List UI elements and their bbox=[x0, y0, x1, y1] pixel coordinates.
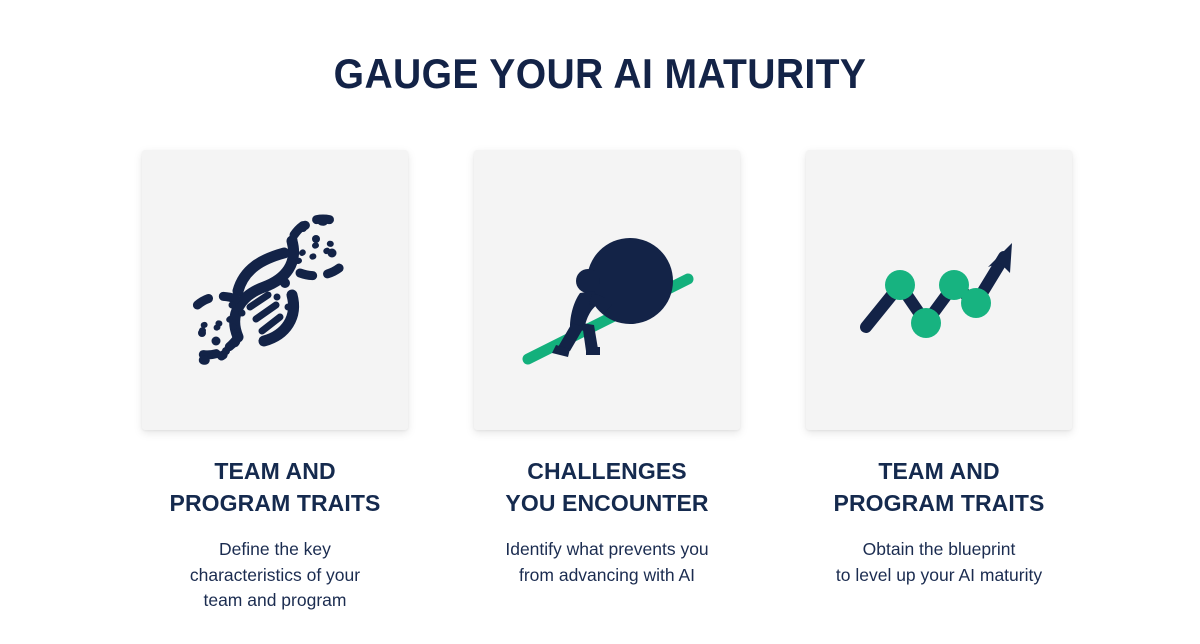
card-icon-tile bbox=[474, 150, 740, 430]
card-heading: TEAM AND PROGRAM TRAITS bbox=[170, 456, 381, 519]
cards-row: TEAM AND PROGRAM TRAITS Define the key c… bbox=[142, 150, 1072, 614]
person-pushing-boulder-uphill-icon bbox=[512, 195, 702, 385]
infographic-page: GAUGE YOUR AI MATURITY bbox=[0, 0, 1200, 644]
card-icon-tile bbox=[142, 150, 408, 430]
card-team-and-program-traits: TEAM AND PROGRAM TRAITS Define the key c… bbox=[142, 150, 408, 614]
card-blueprint-traits: TEAM AND PROGRAM TRAITS Obtain the bluep… bbox=[806, 150, 1072, 614]
card-body-text: Obtain the blueprint to level up your AI… bbox=[836, 537, 1042, 588]
upward-trend-arrow-icon bbox=[844, 195, 1034, 385]
card-heading: CHALLENGES YOU ENCOUNTER bbox=[505, 456, 708, 519]
card-heading: TEAM AND PROGRAM TRAITS bbox=[834, 456, 1045, 519]
page-title: GAUGE YOUR AI MATURITY bbox=[42, 50, 1158, 98]
card-icon-tile bbox=[806, 150, 1072, 430]
card-body-text: Define the key characteristics of your t… bbox=[190, 537, 360, 613]
card-body-text: Identify what prevents you from advancin… bbox=[505, 537, 708, 588]
card-challenges-you-encounter: CHALLENGES YOU ENCOUNTER Identify what p… bbox=[474, 150, 740, 614]
dna-helix-icon bbox=[180, 195, 370, 385]
